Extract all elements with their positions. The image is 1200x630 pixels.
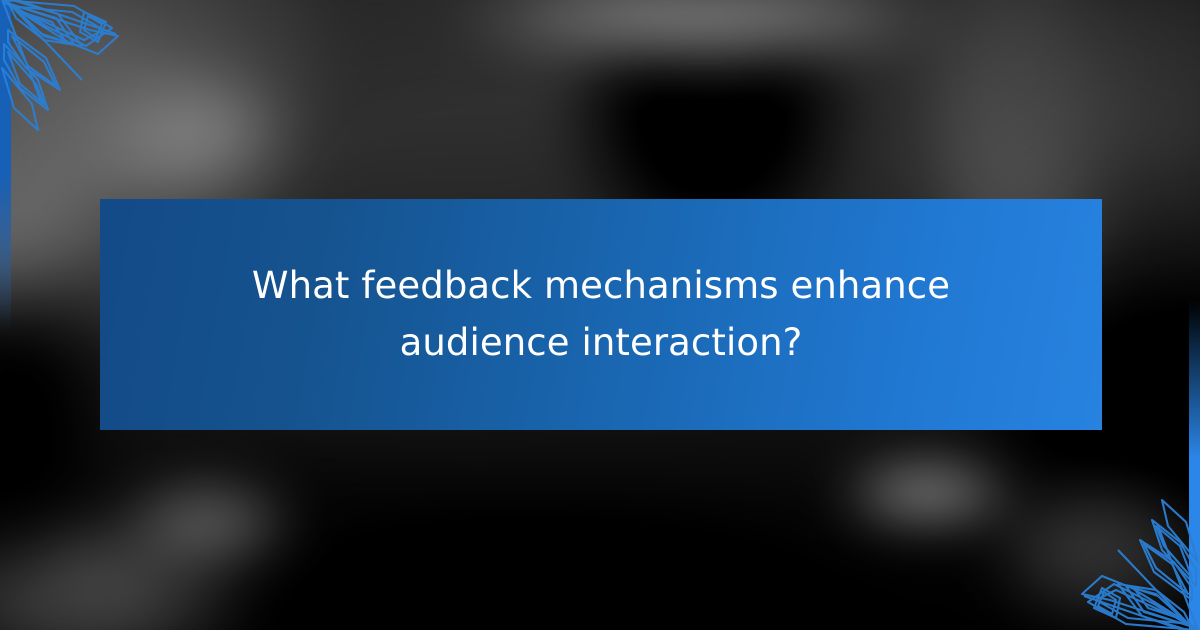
question-banner: What feedback mechanisms enhance audienc… xyxy=(100,199,1102,430)
question-title: What feedback mechanisms enhance audienc… xyxy=(251,258,951,370)
question-card: What feedback mechanisms enhance audienc… xyxy=(0,0,1200,630)
question-banner-content: What feedback mechanisms enhance audienc… xyxy=(100,199,1102,430)
